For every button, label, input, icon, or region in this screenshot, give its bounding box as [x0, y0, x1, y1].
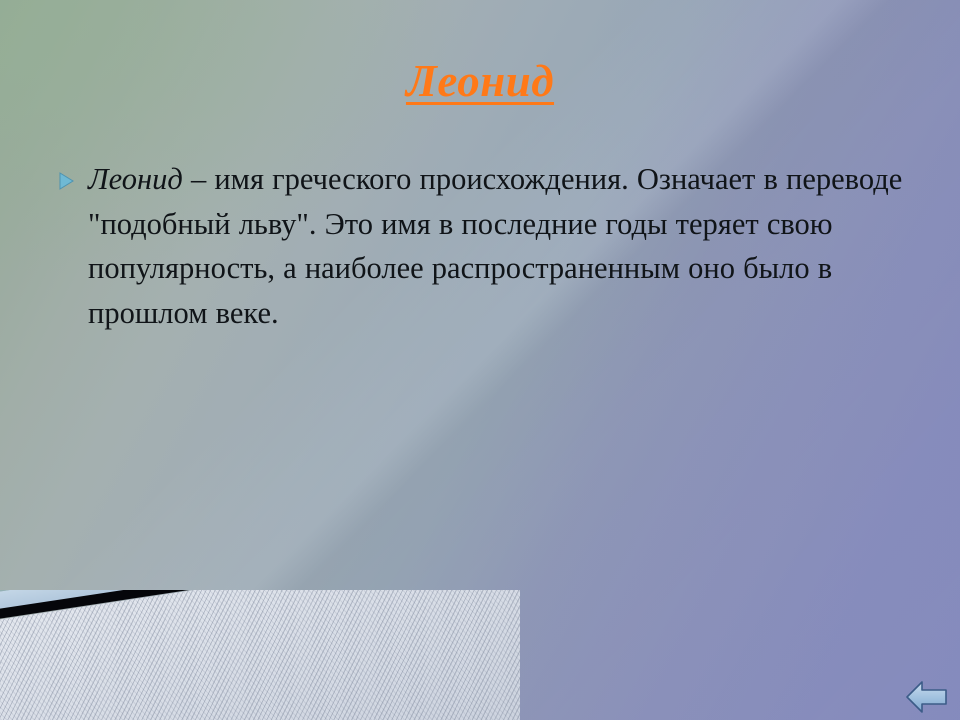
bullet-list-item: Леонид – имя греческого происхождения. О…: [58, 157, 906, 335]
bullet-body-text: – имя греческого происхождения. Означает…: [88, 162, 902, 330]
hatched-texture-wedge: [0, 590, 520, 720]
back-navigation-button[interactable]: [900, 676, 954, 718]
slide-title: Леонид: [0, 58, 960, 105]
presentation-slide: Леонид Леонид – имя греческого происхожд…: [0, 0, 960, 720]
diagonal-ribbon-decoration: [0, 590, 520, 720]
triangle-right-icon: [58, 157, 88, 191]
bullet-paragraph: Леонид – имя греческого происхождения. О…: [88, 157, 906, 335]
bullet-lead-word: Леонид: [88, 162, 183, 196]
slide-body: Леонид – имя греческого происхождения. О…: [58, 157, 906, 335]
arrow-left-icon[interactable]: [904, 679, 950, 715]
